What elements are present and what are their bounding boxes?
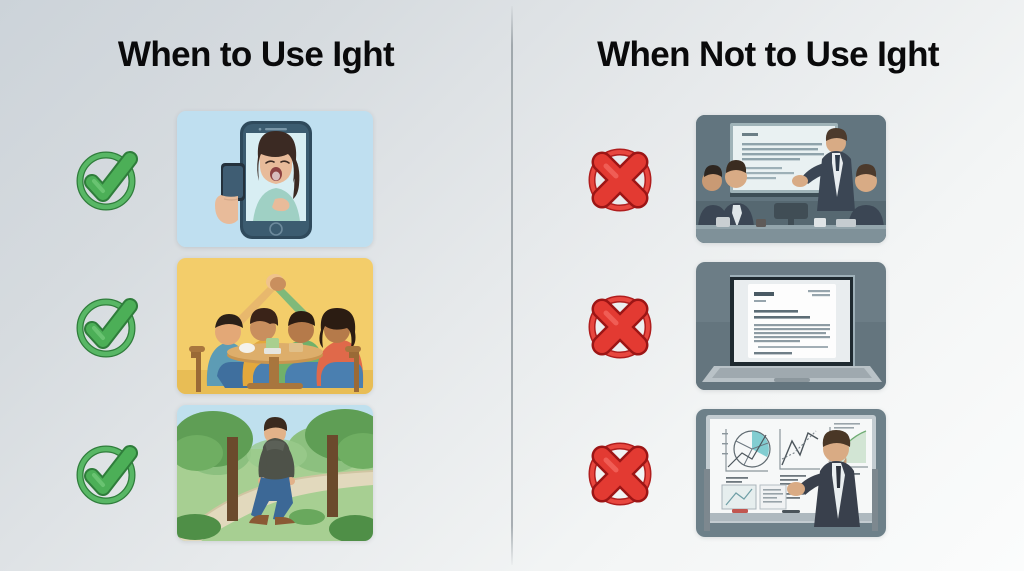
right-column-rows [512,105,1024,546]
green-check-icon [68,139,148,219]
green-check-icon [68,433,148,513]
red-cross-icon [580,139,660,219]
list-item [512,252,1024,399]
red-cross-icon [580,433,660,513]
when-to-use-column: When to Use Ight [0,0,512,571]
red-cross-icon [580,286,660,366]
list-item [512,399,1024,546]
left-column-rows [0,105,512,546]
list-item [0,399,512,546]
when-not-to-use-column: When Not to Use Ight [512,0,1024,571]
list-item [512,105,1024,252]
right-column-title: When Not to Use Ight [512,36,1024,75]
list-item-image [696,409,886,537]
list-item-image [696,262,886,390]
left-column-title: When to Use Ight [0,36,512,75]
list-item-image [177,111,373,247]
list-item-image [696,115,886,243]
green-check-icon [68,286,148,366]
list-item [0,105,512,252]
comparison-infographic: When to Use Ight [0,0,1024,571]
list-item-image [177,405,373,541]
list-item-image [177,258,373,394]
list-item [0,252,512,399]
